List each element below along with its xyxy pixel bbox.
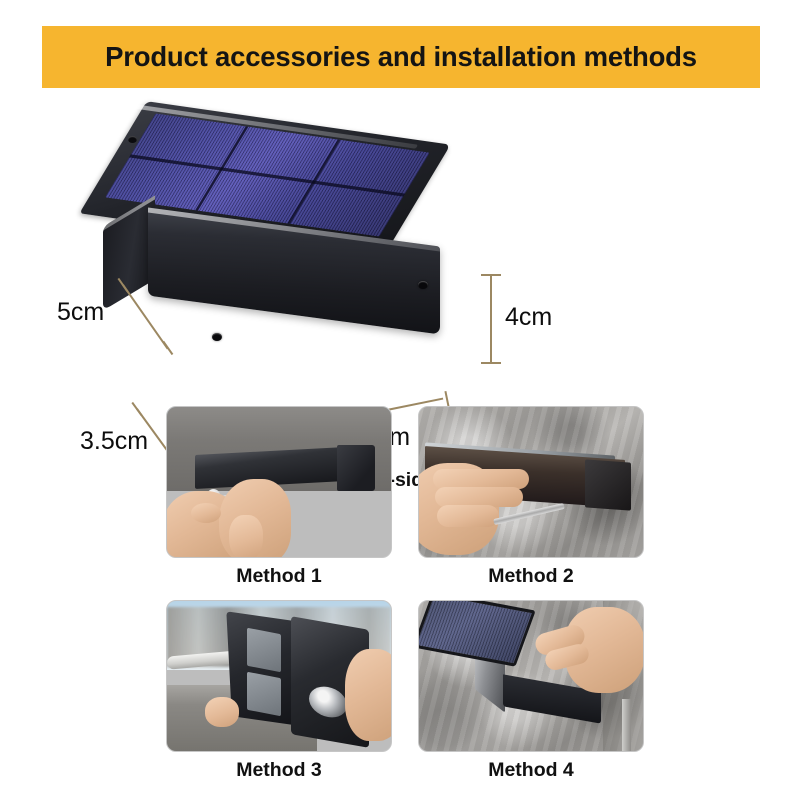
body-screw-icon — [212, 333, 222, 341]
method-1-label: Method 1 — [166, 565, 392, 588]
method-3-photo — [166, 600, 392, 752]
product-lamp-illustration — [100, 115, 480, 365]
lamp-end-cap — [337, 445, 375, 491]
page-title: Product accessories and installation met… — [105, 41, 697, 73]
cell-divider — [129, 154, 405, 196]
dimension-label-4cm: 4cm — [505, 303, 552, 332]
method-card-4: Method 4 — [418, 600, 644, 782]
method-3-label: Method 3 — [166, 759, 392, 782]
methods-grid: Method 1 Method 2 — [0, 404, 800, 800]
product-diagram: 5cm 4cm 3.5cm 12cm Delivery double-sided… — [0, 95, 800, 395]
finger — [435, 487, 523, 507]
hand — [345, 649, 392, 741]
method-2-photo — [418, 406, 644, 558]
dimension-line-4cm — [490, 275, 492, 363]
body-screw-icon — [418, 281, 428, 289]
method-4-label: Method 4 — [418, 759, 644, 782]
dimension-cap — [481, 362, 501, 364]
method-4-photo — [418, 600, 644, 752]
finger — [191, 503, 221, 523]
dimension-cap — [481, 274, 501, 276]
dimension-label-5cm: 5cm — [57, 298, 104, 327]
method-card-2: Method 2 — [418, 406, 644, 588]
panel-screw-icon — [128, 136, 137, 143]
post — [622, 699, 631, 751]
method-card-3: Method 3 — [166, 600, 392, 782]
method-card-1: Method 1 — [166, 406, 392, 588]
lamp-end-cap — [585, 459, 631, 510]
finger — [229, 515, 263, 558]
header-banner: Product accessories and installation met… — [42, 26, 760, 88]
method-1-photo — [166, 406, 392, 558]
finger — [437, 505, 499, 527]
double-sided-tape-pad — [247, 672, 281, 717]
finger — [433, 469, 529, 489]
finger — [205, 697, 239, 727]
double-sided-tape-pad — [247, 628, 281, 673]
method-2-label: Method 2 — [418, 565, 644, 588]
